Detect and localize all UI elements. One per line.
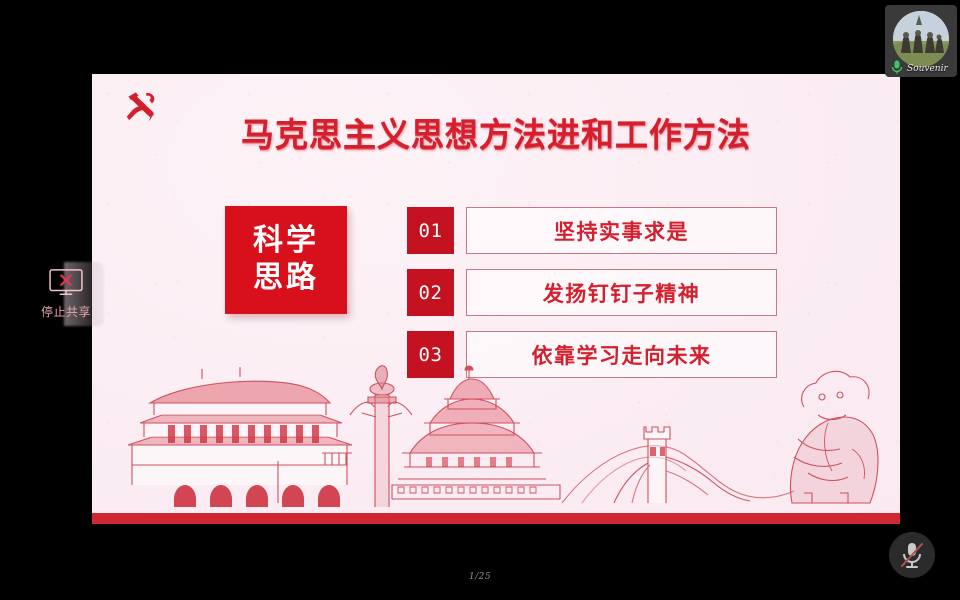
microphone-muted-icon xyxy=(899,541,925,569)
self-view-thumbnail[interactable]: Souvenir xyxy=(885,5,957,77)
item-text-box: 发扬钉钉子精神 xyxy=(466,269,777,316)
item-number: 02 xyxy=(407,269,454,316)
shared-slide: 马克思主义思想方法进和工作方法 马克思主义思想方法进和工作方法 科学 思路 01… xyxy=(92,74,900,524)
item-label: 发扬钉钉子精神 xyxy=(543,278,701,308)
list-item: 01 坚持实事求是 xyxy=(407,207,777,254)
page-indicator: 1/25 xyxy=(0,572,960,582)
slide-footer-bar xyxy=(92,513,900,524)
microphone-on-icon xyxy=(890,59,904,75)
beijing-landmarks-illustration xyxy=(92,353,900,513)
list-item: 02 发扬钉钉子精神 xyxy=(407,269,777,316)
concept-line-2: 思路 xyxy=(253,260,319,297)
item-text-box: 坚持实事求是 xyxy=(466,207,777,254)
meeting-screen-share-window: 马克思主义思想方法进和工作方法 马克思主义思想方法进和工作方法 科学 思路 01… xyxy=(0,0,960,600)
concept-line-1: 科学 xyxy=(253,223,319,260)
slide-title-reflection: 马克思主义思想方法进和工作方法 xyxy=(92,130,900,152)
stop-share-label: 停止共享 xyxy=(41,303,91,320)
screen-share-stop-icon xyxy=(47,268,85,298)
slide-title-block: 马克思主义思想方法进和工作方法 马克思主义思想方法进和工作方法 xyxy=(92,108,900,200)
self-view-name: Souvenir xyxy=(907,64,948,74)
stop-share-button[interactable]: 停止共享 xyxy=(28,258,104,330)
item-number: 01 xyxy=(407,207,454,254)
item-label: 坚持实事求是 xyxy=(554,216,689,246)
concept-badge: 科学 思路 xyxy=(225,206,347,314)
